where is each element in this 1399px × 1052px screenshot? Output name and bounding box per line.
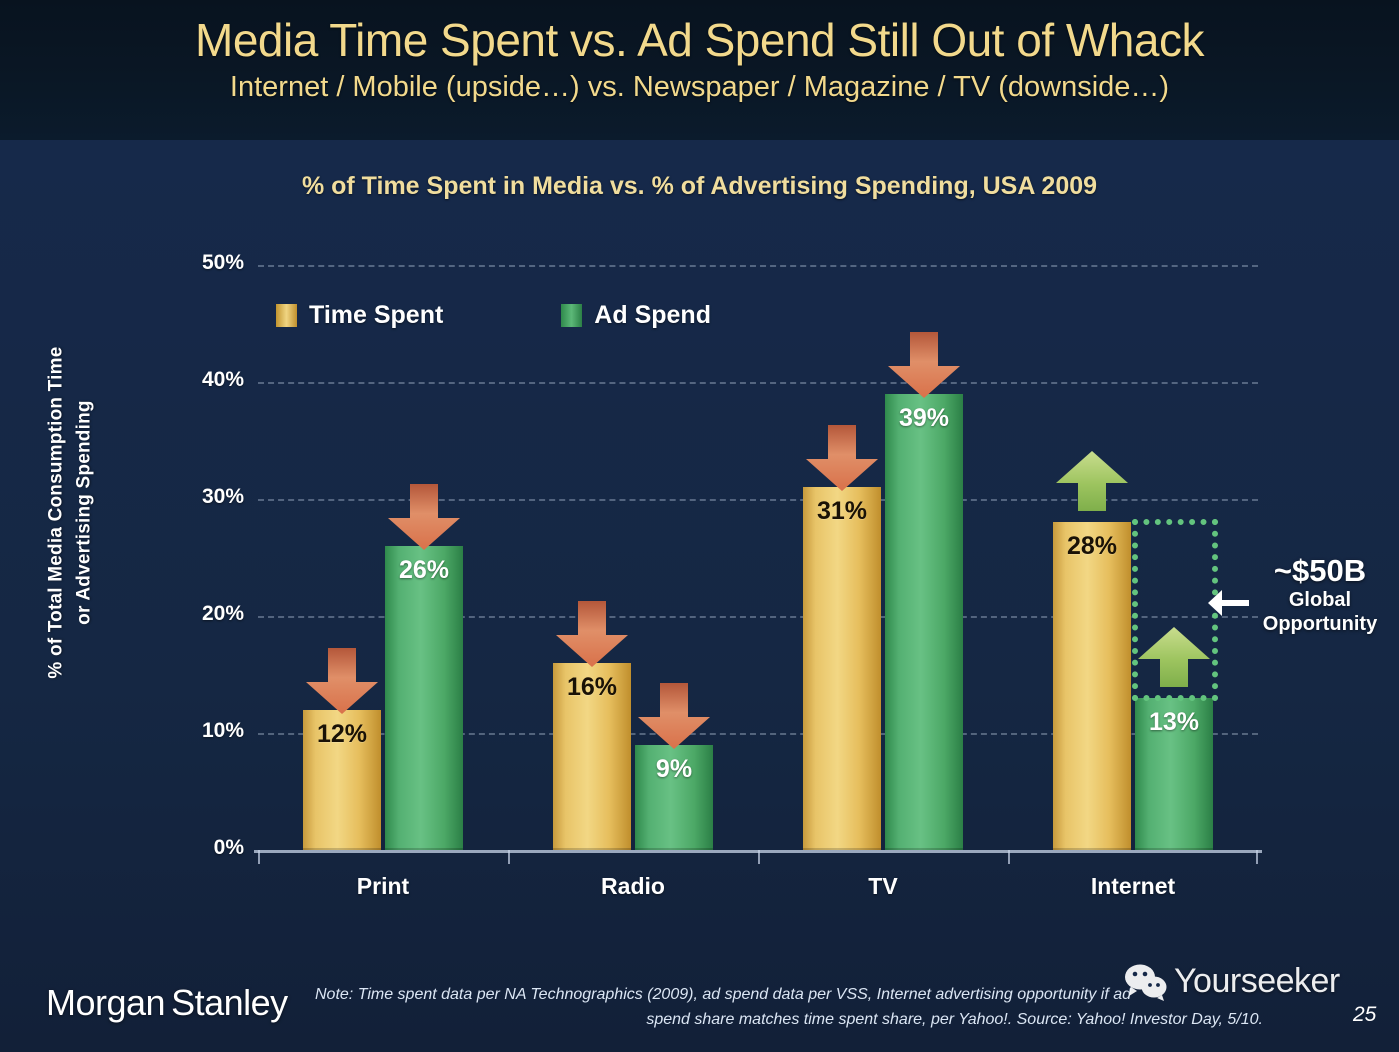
source-note-line-2: spend share matches time spent share, pe… xyxy=(315,1008,1325,1033)
x-axis-tick xyxy=(508,850,510,864)
legend-item-time-spent[interactable]: Time Spent xyxy=(276,301,443,330)
bar-value-label: 13% xyxy=(1135,708,1213,737)
slide-subtitle: Internet / Mobile (upside…) vs. Newspape… xyxy=(0,70,1399,105)
chart-title: % of Time Spent in Media vs. % of Advert… xyxy=(0,172,1399,201)
callout-line-2: Global xyxy=(1245,588,1395,612)
gridline xyxy=(258,265,1258,267)
slide-header: Media Time Spent vs. Ad Spend Still Out … xyxy=(0,0,1399,140)
y-axis-title: % of Total Media Consumption Time or Adv… xyxy=(42,253,97,773)
chart-plot-area: 0%10%20%30%40%50% Time Spent Ad Spend 12… xyxy=(258,265,1258,850)
gridline xyxy=(258,382,1258,384)
yourseeker-watermark: Yourseeker xyxy=(1124,962,1340,1001)
bar-value-label: 31% xyxy=(803,497,881,526)
slide-title: Media Time Spent vs. Ad Spend Still Out … xyxy=(0,0,1399,64)
bar-value-label: 26% xyxy=(385,556,463,585)
down-arrow-icon xyxy=(804,425,880,493)
x-axis-tick xyxy=(1256,850,1258,864)
y-axis-title-line1: % of Total Media Consumption Time xyxy=(45,347,66,679)
y-axis-tick-label: 30% xyxy=(154,485,244,509)
bar-radio-time-spent[interactable]: 16% xyxy=(553,663,631,850)
y-axis-tick-label: 50% xyxy=(154,251,244,275)
x-axis-tick xyxy=(258,850,260,864)
y-axis-title-line2: or Advertising Spending xyxy=(73,400,94,625)
brand-word-2: Stanley xyxy=(171,982,288,1023)
legend-swatch-icon xyxy=(561,304,582,327)
bar-print-ad-spend[interactable]: 26% xyxy=(385,546,463,850)
callout-amount: ~$50B xyxy=(1245,555,1395,588)
bar-value-label: 39% xyxy=(885,404,963,433)
legend-label: Time Spent xyxy=(309,301,443,330)
callout-line-3: Opportunity xyxy=(1245,612,1395,636)
legend-item-ad-spend[interactable]: Ad Spend xyxy=(561,301,711,330)
y-axis-tick-label: 0% xyxy=(154,836,244,860)
bar-internet-ad-spend[interactable]: 13% xyxy=(1135,698,1213,850)
bar-print-time-spent[interactable]: 12% xyxy=(303,710,381,850)
bar-radio-ad-spend[interactable]: 9% xyxy=(635,745,713,850)
category-label-tv: TV xyxy=(763,873,1003,900)
bar-value-label: 16% xyxy=(553,673,631,702)
x-axis-tick xyxy=(758,850,760,864)
page-number: 25 xyxy=(1353,1003,1376,1027)
up-arrow-icon xyxy=(1054,450,1130,512)
category-label-radio: Radio xyxy=(513,873,753,900)
bar-tv-time-spent[interactable]: 31% xyxy=(803,487,881,850)
watermark-label: Yourseeker xyxy=(1174,962,1340,1001)
x-axis-tick xyxy=(1008,850,1010,864)
category-label-print: Print xyxy=(263,873,503,900)
down-arrow-icon xyxy=(304,648,380,716)
down-arrow-icon xyxy=(554,601,630,669)
y-axis-tick-label: 40% xyxy=(154,368,244,392)
category-label-internet: Internet xyxy=(1013,873,1253,900)
brand-word-1: Morgan xyxy=(46,982,165,1023)
bar-internet-time-spent[interactable]: 28% xyxy=(1053,522,1131,850)
legend-swatch-icon xyxy=(276,304,297,327)
morgan-stanley-logo: MorganStanley xyxy=(46,982,288,1024)
chart-legend: Time Spent Ad Spend xyxy=(276,301,711,330)
wechat-icon xyxy=(1124,963,1168,1001)
opportunity-callout: ~$50B Global Opportunity xyxy=(1245,555,1395,636)
down-arrow-icon xyxy=(386,484,462,552)
down-arrow-icon xyxy=(636,683,712,751)
down-arrow-icon xyxy=(886,332,962,400)
bar-value-label: 12% xyxy=(303,720,381,749)
bar-value-label: 9% xyxy=(635,755,713,784)
slide-body: % of Time Spent in Media vs. % of Advert… xyxy=(0,140,1399,1052)
bar-tv-ad-spend[interactable]: 39% xyxy=(885,394,963,850)
y-axis-tick-label: 20% xyxy=(154,602,244,626)
y-axis-tick-label: 10% xyxy=(154,719,244,743)
legend-label: Ad Spend xyxy=(594,301,711,330)
bar-value-label: 28% xyxy=(1053,532,1131,561)
